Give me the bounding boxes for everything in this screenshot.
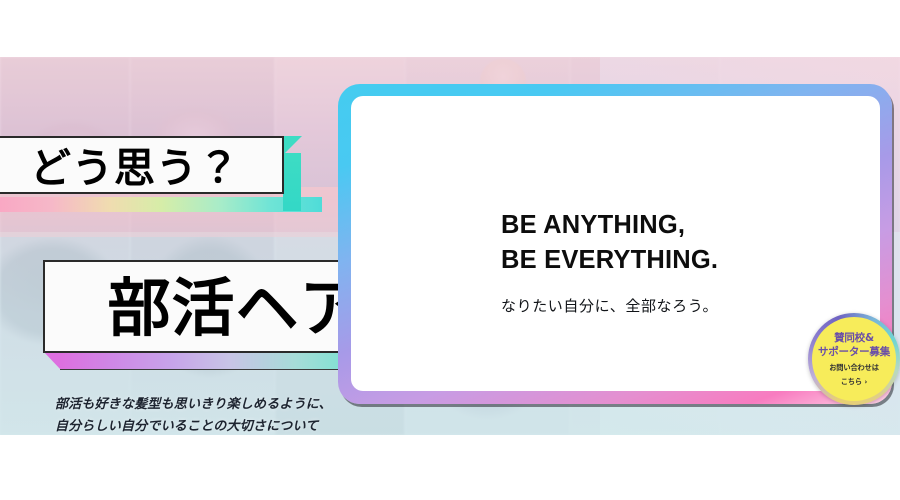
supporter-recruit-badge[interactable]: 賛同校& サポーター募集 お問い合わせは こちら ›	[808, 313, 900, 405]
panel-headline-line-2: BE EVERYTHING.	[501, 243, 718, 278]
lead-paragraph: 部活も好きな髪型も思いきり楽しめるように、 自分らしい自分でいることの大切さにつ…	[55, 394, 332, 435]
panel-subcopy: なりたい自分に、全部なろう。	[501, 295, 718, 316]
badge-sub-line-1: お問い合わせは	[829, 363, 879, 373]
banner-stage: asics KOBE KORYO どう思う？ 部活ヘア 部活も好きな髪型も思いき…	[0, 0, 900, 500]
callout-top-text: どう思う？	[0, 134, 282, 194]
lead-line-1: 部活も好きな髪型も思いきり楽しめるように、	[55, 394, 332, 416]
panel-content: BE ANYTHING, BE EVERYTHING. なりたい自分に、全部なろ…	[501, 208, 718, 316]
callout-main-shadow-corner-bl	[43, 351, 61, 370]
rainbow-divider-strip	[0, 197, 322, 212]
callout-top-shadow-side	[283, 153, 301, 211]
badge-title-line-2: サポーター募集	[818, 345, 890, 359]
callout-top: どう思う？	[0, 136, 284, 194]
badge-inner[interactable]: 賛同校& サポーター募集 お問い合わせは こちら ›	[812, 317, 896, 401]
rose-overlay-left	[0, 187, 360, 237]
badge-sub-line-2: こちら ›	[841, 377, 868, 387]
panel-inner-surface: BE ANYTHING, BE EVERYTHING. なりたい自分に、全部なろ…	[351, 96, 880, 391]
panel-headline-line-1: BE ANYTHING,	[501, 208, 718, 243]
badge-title-line-1: 賛同校&	[834, 331, 874, 345]
lead-line-2: 自分らしい自分でいることの大切さについて	[55, 416, 332, 435]
callout-top-shadow-corner	[284, 136, 302, 154]
